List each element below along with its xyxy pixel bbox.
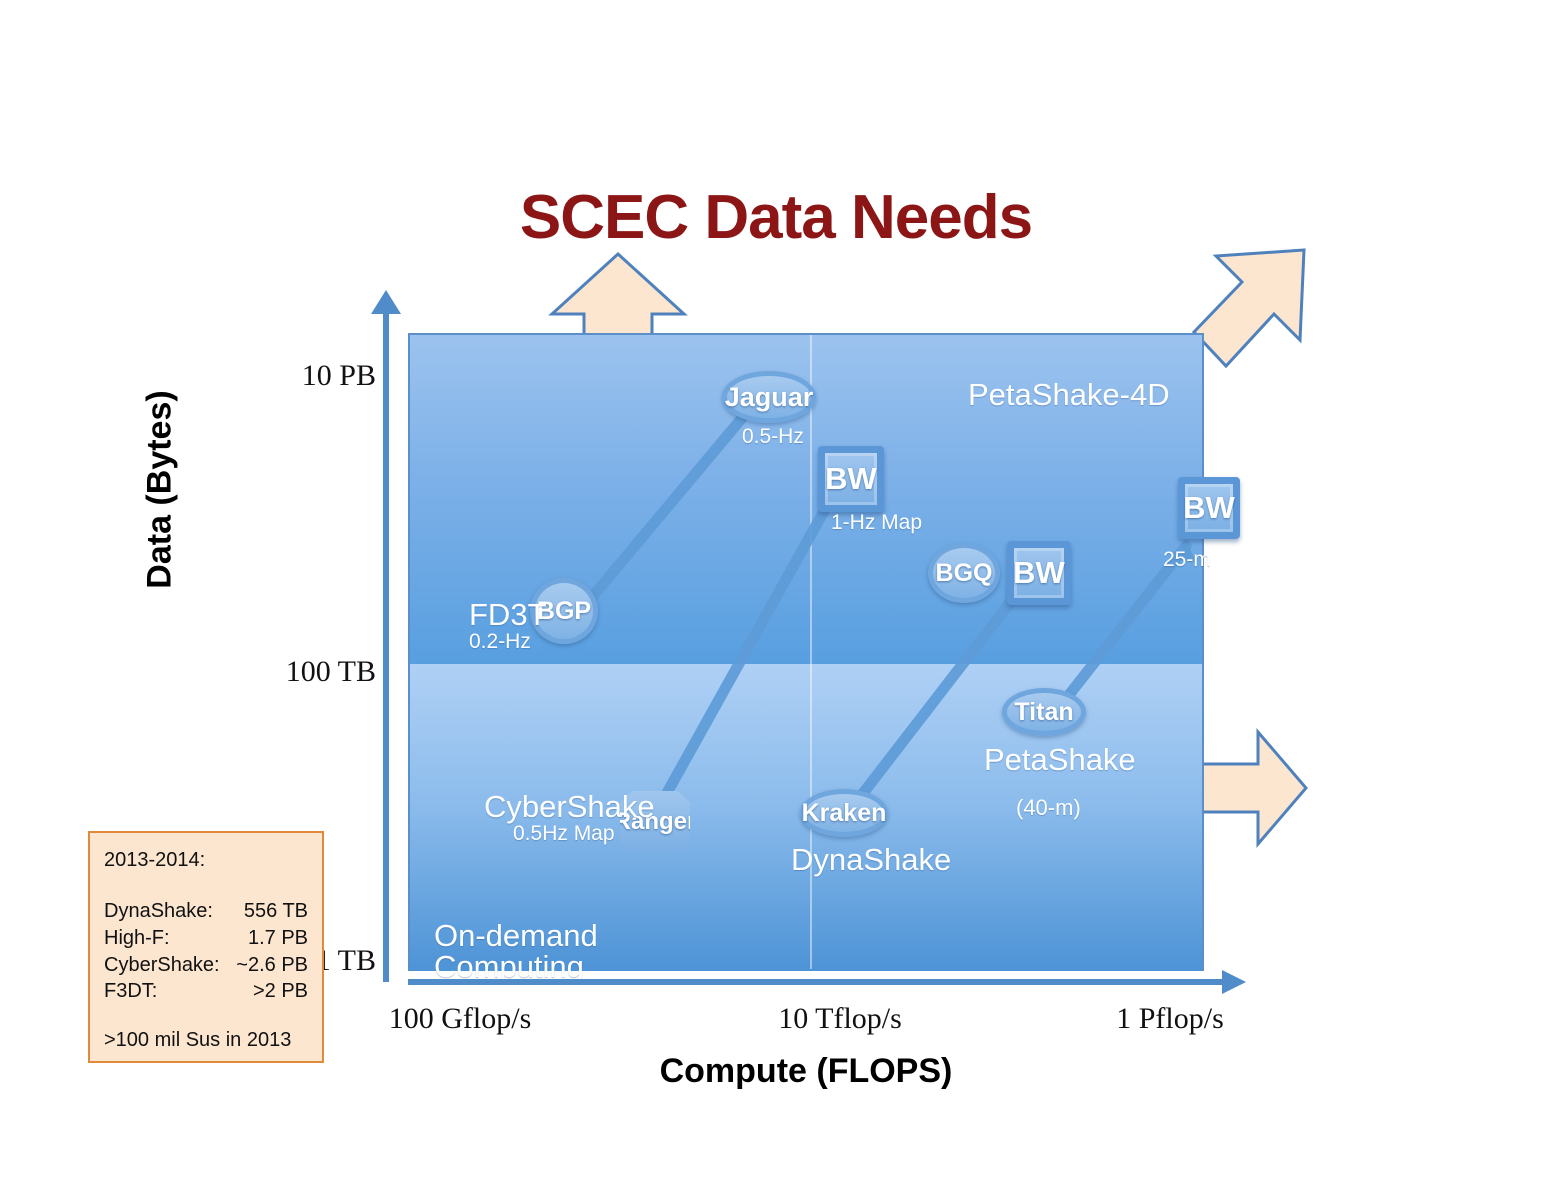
- node-bw-25m[interactable]: BW: [1178, 477, 1240, 539]
- y-tick-100tb: 100 TB: [286, 655, 376, 689]
- legend-row: CyberShake: ~2.6 PB: [104, 952, 308, 979]
- y-axis-arrowhead: [371, 290, 401, 314]
- node-bw-mid[interactable]: BW: [1007, 541, 1071, 605]
- annotation-jaguar-freq: 0.5-Hz: [742, 425, 804, 449]
- summary-legend-box: 2013-2014: DynaShake: 556 TB High-F: 1.7…: [88, 831, 324, 1063]
- y-tick-10pb: 10 PB: [302, 359, 376, 393]
- annotation-fd3t-freq: 0.2-Hz: [469, 630, 531, 654]
- annotation-petashake: PetaShake: [984, 742, 1136, 778]
- y-axis-title: Data (Bytes): [141, 310, 180, 670]
- x-tick-100gflops: 100 Gflop/s: [300, 1002, 620, 1036]
- y-axis-line: [383, 310, 389, 982]
- annotation-bw-25m: 25-m: [1163, 548, 1211, 572]
- node-jaguar[interactable]: Jaguar: [722, 371, 816, 423]
- legend-row-value: ~2.6 PB: [236, 952, 308, 979]
- legend-row-name: High-F:: [104, 925, 170, 952]
- growth-arrow-diagonal: [1186, 246, 1310, 374]
- annotation-dynashake: DynaShake: [791, 842, 951, 878]
- node-titan[interactable]: Titan: [1002, 688, 1086, 736]
- page-title: SCEC Data Needs: [0, 182, 1552, 253]
- x-axis-arrowhead: [1222, 970, 1246, 994]
- legend-row-name: CyberShake:: [104, 952, 220, 979]
- legend-row-name: F3DT:: [104, 978, 157, 1005]
- slide-canvas: SCEC Data Needs Jaguar BGP: [0, 0, 1552, 1199]
- node-bgq[interactable]: BGQ: [928, 543, 1000, 603]
- legend-row: F3DT: >2 PB: [104, 978, 308, 1005]
- region-label-petashake-4d: PetaShake-4D: [968, 377, 1170, 413]
- legend-row-value: 556 TB: [244, 898, 308, 925]
- y-tick-1tb: 1 TB: [316, 944, 376, 978]
- legend-row-value: 1.7 PB: [248, 925, 308, 952]
- legend-row-value: >2 PB: [253, 978, 308, 1005]
- x-tick-1pflops: 1 Pflop/s: [1010, 1002, 1330, 1036]
- node-bw-1hz[interactable]: BW: [818, 446, 884, 512]
- node-bw-25m-label: BW: [1183, 490, 1235, 526]
- annotation-fd3t: FD3T: [469, 597, 547, 633]
- legend-row: DynaShake: 556 TB: [104, 898, 308, 925]
- annotation-cybershake-map: 0.5Hz Map: [513, 822, 615, 846]
- node-titan-label: Titan: [1014, 698, 1073, 727]
- node-jaguar-label: Jaguar: [725, 382, 814, 413]
- node-bw-mid-label: BW: [1013, 555, 1065, 591]
- legend-heading: 2013-2014:: [104, 849, 308, 872]
- x-axis-line: [408, 979, 1228, 985]
- x-tick-10tflops: 10 Tflop/s: [680, 1002, 1000, 1036]
- legend-row: High-F: 1.7 PB: [104, 925, 308, 952]
- legend-footer: >100 mil Sus in 2013: [104, 1029, 308, 1052]
- x-axis-title: Compute (FLOPS): [408, 1052, 1204, 1091]
- node-kraken[interactable]: Kraken: [800, 789, 888, 837]
- node-kraken-label: Kraken: [802, 799, 887, 828]
- annotation-bw-1hz-map: 1-Hz Map: [831, 511, 922, 535]
- annotation-cybershake: CyberShake: [484, 789, 655, 825]
- node-bgq-label: BGQ: [936, 559, 993, 588]
- node-bw-1hz-label: BW: [825, 461, 877, 497]
- annotation-petashake-res: (40-m): [1016, 795, 1081, 821]
- legend-row-name: DynaShake:: [104, 898, 213, 925]
